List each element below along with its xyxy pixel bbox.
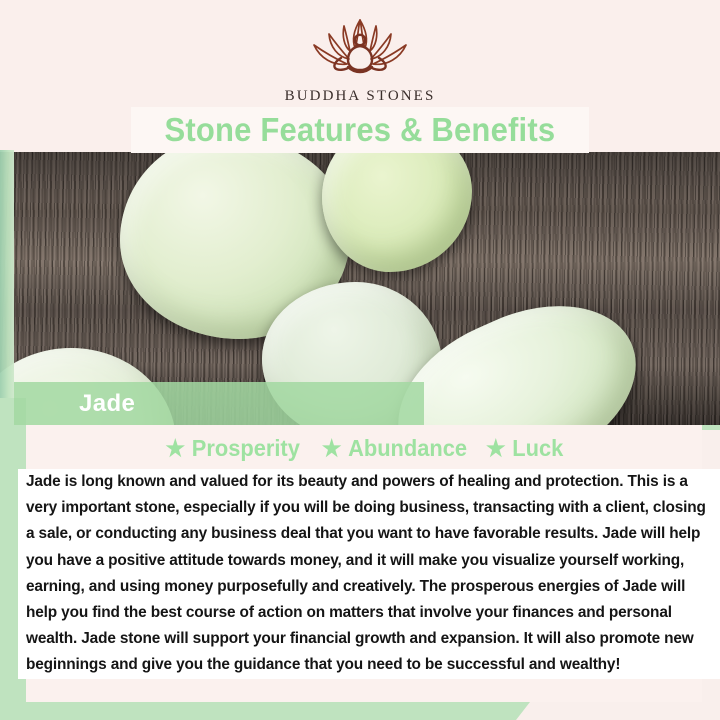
keyword-luck: ★ Luck <box>487 435 564 462</box>
title-banner: Stone Features & Benefits <box>131 107 589 153</box>
lotus-meditation-icon <box>300 14 420 86</box>
description-text: Jade is long known and valued for its be… <box>26 469 714 679</box>
keyword-abundance: ★ Abundance <box>321 435 466 462</box>
brand-name: BUDDHA STONES <box>285 88 436 105</box>
infographic-page: BUDDHA STONES Stone Features & Benefits … <box>0 0 720 720</box>
keywords-row: ★ Prosperity ★ Abundance ★ Luck <box>26 431 702 465</box>
decor-strip-left <box>0 150 14 400</box>
decor-band-bottom <box>0 702 530 720</box>
star-icon: ★ <box>166 437 186 460</box>
keyword-prosperity: ★ Prosperity <box>166 435 300 462</box>
keyword-label: Luck <box>513 435 564 462</box>
content-panel: ★ Prosperity ★ Abundance ★ Luck Jade is … <box>26 425 702 702</box>
star-icon: ★ <box>321 437 341 460</box>
keyword-label: Abundance <box>348 435 467 462</box>
stone-name: Jade <box>14 390 135 418</box>
page-title: Stone Features & Benefits <box>165 111 556 149</box>
keyword-label: Prosperity <box>192 435 300 462</box>
stone-name-label: Jade <box>14 382 424 425</box>
description-block: Jade is long known and valued for its be… <box>18 469 720 679</box>
star-icon: ★ <box>487 437 507 460</box>
brand-logo: BUDDHA STONES <box>0 14 720 105</box>
